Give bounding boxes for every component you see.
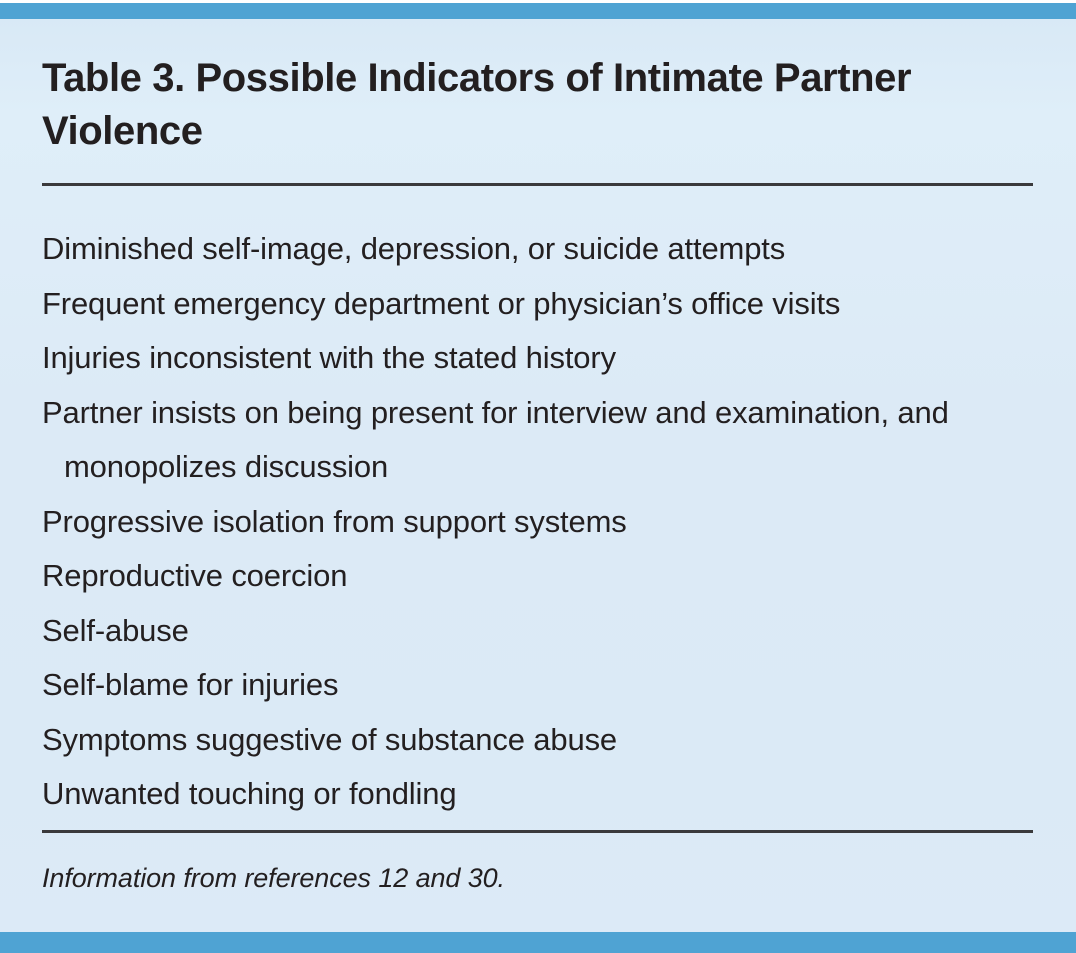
list-item: Diminished self-image, depression, or su… (42, 222, 1027, 277)
top-accent-bar (0, 3, 1076, 19)
list-item: Self-abuse (42, 604, 1027, 659)
header-rule (42, 183, 1033, 186)
bottom-accent-bar (0, 932, 1076, 953)
indicator-list: Diminished self-image, depression, or su… (42, 222, 1027, 822)
list-item: Injuries inconsistent with the stated hi… (42, 331, 1027, 386)
list-item: Unwanted touching or fondling (42, 767, 1027, 822)
table-figure: Table 3. Possible Indicators of Intimate… (0, 0, 1076, 953)
list-item: Symptoms suggestive of substance abuse (42, 713, 1027, 768)
list-item: Self-blame for injuries (42, 658, 1027, 713)
list-item: Frequent emergency department or physici… (42, 277, 1027, 332)
list-item: Progressive isolation from support syste… (42, 495, 1027, 550)
page-title: Table 3. Possible Indicators of Intimate… (42, 52, 922, 158)
footer-rule (42, 830, 1033, 833)
list-item: Partner insists on being present for int… (42, 386, 1027, 495)
table-footnote: Information from references 12 and 30. (42, 861, 505, 895)
list-item: Reproductive coercion (42, 549, 1027, 604)
